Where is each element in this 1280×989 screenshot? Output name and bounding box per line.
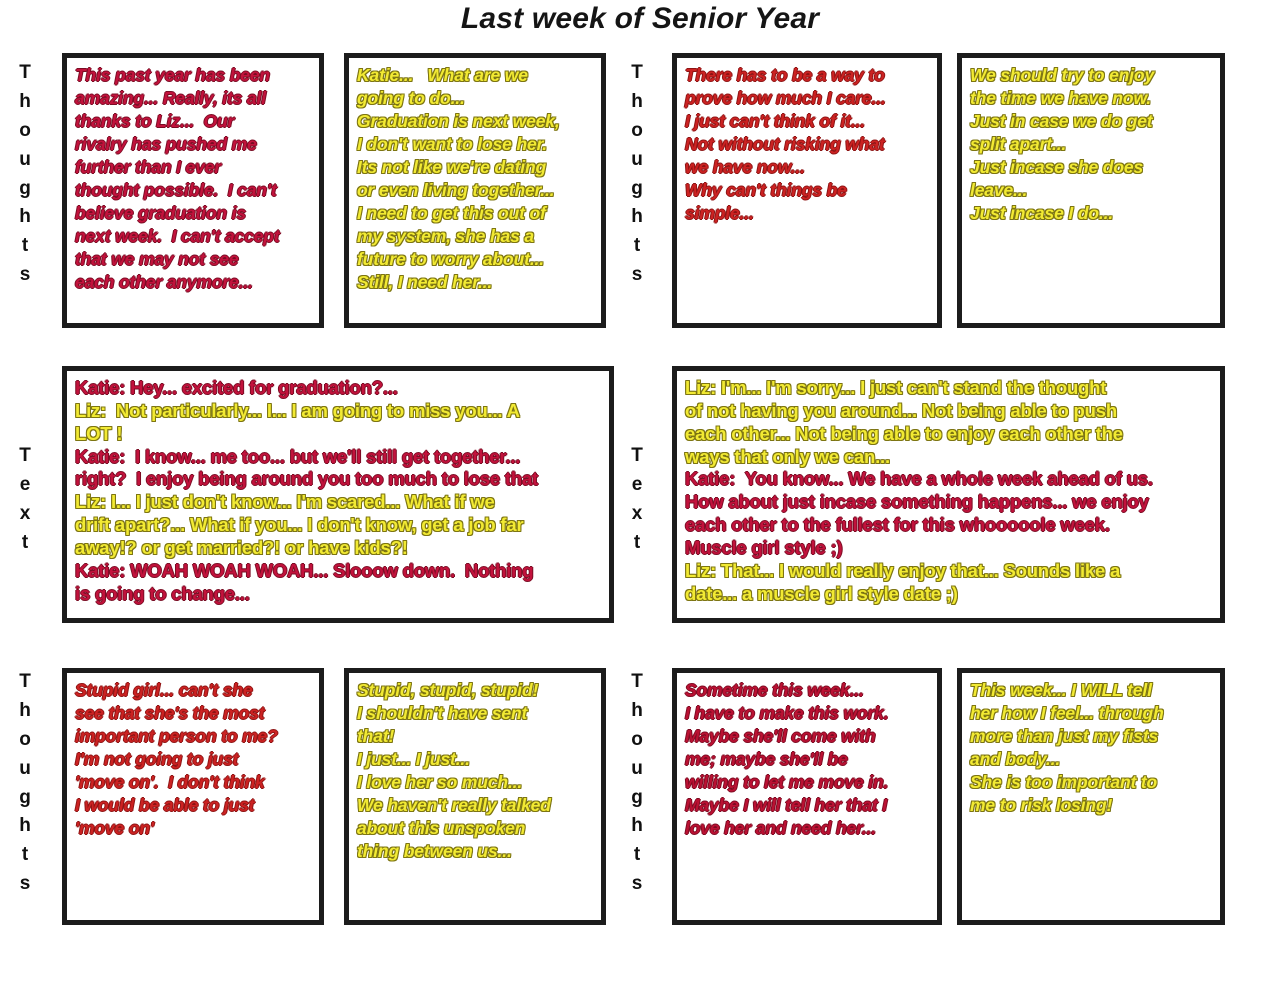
thought-line: There has to be a way to — [685, 64, 930, 87]
dialogue-line: Liz: Not particularly... I... I am going… — [75, 400, 602, 423]
side-label-letter: s — [8, 261, 42, 290]
side-label-letter: u — [8, 755, 42, 784]
panel-text-1-body: Katie: Hey... excited for graduation?...… — [67, 371, 609, 609]
side-label-letter: e — [620, 471, 654, 500]
side-label-letter: t — [8, 529, 42, 558]
thought-line: Just incase I do... — [970, 202, 1213, 225]
panel-text-1: Katie: Hey... excited for graduation?...… — [62, 366, 614, 623]
dialogue-line: Katie: You know... We have a whole week … — [685, 468, 1213, 491]
thought-line: thing between us... — [357, 840, 594, 863]
thought-line: simple... — [685, 202, 930, 225]
thought-line: Stupid, stupid, stupid! — [357, 679, 594, 702]
dialogue-line: away!? or get married?! or have kids?! — [75, 537, 602, 560]
thought-line: Stupid girl... can't she — [75, 679, 312, 702]
thought-line: rivalry has pushed me — [75, 133, 312, 156]
thought-line: I just can't think of it... — [685, 110, 930, 133]
side-label-letter: h — [8, 697, 42, 726]
dialogue-line: Katie: Hey... excited for graduation?... — [75, 377, 602, 400]
dialogue-line: drift apart?... What if you... I don't k… — [75, 514, 602, 537]
thought-line: Its not like we're dating — [357, 156, 594, 179]
thought-line: further than I ever — [75, 156, 312, 179]
dialogue-line: Liz: I... I just don't know... I'm scare… — [75, 491, 602, 514]
side-label-letter: h — [620, 697, 654, 726]
thought-line: Maybe she'll come with — [685, 725, 930, 748]
panel-thoughts-2: Katie... What are we going to do... Grad… — [344, 53, 606, 328]
thought-line: love her and need her... — [685, 817, 930, 840]
side-label-letter: T — [620, 668, 654, 697]
row-label-thoughts-right-top: Thoughts — [620, 59, 654, 290]
side-label-letter: g — [8, 784, 42, 813]
thought-line: thought possible. I can't — [75, 179, 312, 202]
thought-line: Why can't things be — [685, 179, 930, 202]
side-label-letter: t — [620, 529, 654, 558]
dialogue-line: ways that only we can... — [685, 446, 1213, 469]
row-text-middle: Text Katie: Hey... excited for graduatio… — [0, 366, 1280, 623]
row-thoughts-bottom: Thoughts Stupid girl... can't she see th… — [0, 668, 1280, 925]
side-label-letter: T — [620, 442, 654, 471]
side-label-letter: t — [620, 841, 654, 870]
thought-line: me to risk losing! — [970, 794, 1213, 817]
dialogue-line: of not having you around... Not being ab… — [685, 400, 1213, 423]
side-label-letter: o — [8, 117, 42, 146]
dialogue-line: is going to change... — [75, 583, 602, 606]
row-label-thoughts-right-bottom: Thoughts — [620, 668, 654, 899]
thought-line: believe graduation is — [75, 202, 312, 225]
thought-line: we have now... — [685, 156, 930, 179]
dialogue-line: LOT ! — [75, 423, 602, 446]
side-label-letter: s — [620, 261, 654, 290]
dialogue-line: How about just incase something happens.… — [685, 491, 1213, 514]
panel-text-2-body: Liz: I'm... I'm sorry... I just can't st… — [677, 371, 1220, 609]
side-label-letter: s — [8, 870, 42, 899]
thought-line: This week... I WILL tell — [970, 679, 1213, 702]
thought-line: She is too important to — [970, 771, 1213, 794]
thought-line: next week. I can't accept — [75, 225, 312, 248]
thought-line: the time we have now. — [970, 87, 1213, 110]
panel-thoughts-1: This past year has been amazing... Reall… — [62, 53, 324, 328]
row-label-thoughts-left-top: Thoughts — [8, 59, 42, 290]
dialogue-line: date... a muscle girl style date ;) — [685, 583, 1213, 606]
thought-line: We should try to enjoy — [970, 64, 1213, 87]
thought-line: willing to let me move in. — [685, 771, 930, 794]
thought-line: prove how much I care... — [685, 87, 930, 110]
side-label-letter: h — [8, 88, 42, 117]
side-label-letter: u — [620, 146, 654, 175]
side-label-letter: g — [620, 784, 654, 813]
side-label-letter: h — [8, 812, 42, 841]
dialogue-line: Liz: That... I would really enjoy that..… — [685, 560, 1213, 583]
dialogue-line: Katie: I know... me too... but we'll sti… — [75, 446, 602, 469]
thought-line: each other anymore... — [75, 271, 312, 294]
dialogue-line: Liz: I'm... I'm sorry... I just can't st… — [685, 377, 1213, 400]
thought-line: that! — [357, 725, 594, 748]
panel-thoughts-6: Stupid, stupid, stupid! I shouldn't have… — [344, 668, 606, 925]
side-label-letter: e — [8, 471, 42, 500]
panel-thoughts-5: Stupid girl... can't she see that she's … — [62, 668, 324, 925]
panel-thoughts-3: There has to be a way to prove how much … — [672, 53, 942, 328]
dialogue-line: each other to the fullest for this whooo… — [685, 514, 1213, 537]
side-label-letter: h — [620, 203, 654, 232]
thought-line: This past year has been — [75, 64, 312, 87]
thought-line: thanks to Liz... Our — [75, 110, 312, 133]
thought-line: I don't want to lose her. — [357, 133, 594, 156]
side-label-letter: t — [620, 232, 654, 261]
thought-line: Katie... What are we — [357, 64, 594, 87]
side-label-letter: x — [620, 500, 654, 529]
thought-line: Still, I need her... — [357, 271, 594, 294]
side-label-letter: u — [8, 146, 42, 175]
panel-thoughts-4-body: We should try to enjoy the time we have … — [962, 58, 1220, 229]
thought-line: important person to me? — [75, 725, 312, 748]
panel-thoughts-7-body: Sometime this week... I have to make thi… — [677, 673, 937, 844]
thought-line: or even living together... — [357, 179, 594, 202]
panel-thoughts-5-body: Stupid girl... can't she see that she's … — [67, 673, 319, 844]
thought-line: me; maybe she'll be — [685, 748, 930, 771]
thought-line: Just incase she does — [970, 156, 1213, 179]
thought-line: see that she's the most — [75, 702, 312, 725]
dialogue-line: Muscle girl style ;) — [685, 537, 1213, 560]
thought-line: I need to get this out of — [357, 202, 594, 225]
side-label-letter: o — [8, 726, 42, 755]
side-label-letter: t — [8, 841, 42, 870]
side-label-letter: T — [8, 442, 42, 471]
row-thoughts-top: Thoughts This past year has been amazing… — [0, 53, 1280, 328]
panel-thoughts-3-body: There has to be a way to prove how much … — [677, 58, 937, 229]
thought-line: I love her so much... — [357, 771, 594, 794]
thought-line: 'move on' — [75, 817, 312, 840]
side-label-letter: u — [620, 755, 654, 784]
panel-thoughts-1-body: This past year has been amazing... Reall… — [67, 58, 319, 298]
side-label-letter: T — [8, 668, 42, 697]
side-label-letter: T — [620, 59, 654, 88]
side-label-letter: o — [620, 726, 654, 755]
side-label-letter: h — [620, 812, 654, 841]
side-label-letter: h — [8, 203, 42, 232]
thought-line: amazing... Really, its all — [75, 87, 312, 110]
thought-line: her how I feel... through — [970, 702, 1213, 725]
thought-line: Sometime this week... — [685, 679, 930, 702]
side-label-letter: s — [620, 870, 654, 899]
thought-line: 'move on'. I don't think — [75, 771, 312, 794]
thought-line: that we may not see — [75, 248, 312, 271]
thought-line: I have to make this work. — [685, 702, 930, 725]
side-label-letter: t — [8, 232, 42, 261]
side-label-letter: x — [8, 500, 42, 529]
panel-thoughts-7: Sometime this week... I have to make thi… — [672, 668, 942, 925]
thought-line: We haven't really talked — [357, 794, 594, 817]
thought-line: split apart... — [970, 133, 1213, 156]
side-label-letter: h — [620, 88, 654, 117]
panel-thoughts-8: This week... I WILL tell her how I feel.… — [957, 668, 1225, 925]
row-label-text-right: Text — [620, 442, 654, 558]
side-label-letter: T — [8, 59, 42, 88]
thought-line: I just... I just... — [357, 748, 594, 771]
thought-line: I would be able to just — [75, 794, 312, 817]
dialogue-line: right? I enjoy being around you too much… — [75, 468, 602, 491]
thought-line: Not without risking what — [685, 133, 930, 156]
thought-line: more than just my fists — [970, 725, 1213, 748]
side-label-letter: o — [620, 117, 654, 146]
side-label-letter: g — [620, 175, 654, 204]
page-title: Last week of Senior Year — [0, 2, 1280, 36]
thought-line: and body... — [970, 748, 1213, 771]
dialogue-line: Katie: WOAH WOAH WOAH... Slooow down. No… — [75, 560, 602, 583]
thought-line: I'm not going to just — [75, 748, 312, 771]
thought-line: I shouldn't have sent — [357, 702, 594, 725]
panel-thoughts-6-body: Stupid, stupid, stupid! I shouldn't have… — [349, 673, 601, 867]
row-label-thoughts-left-bottom: Thoughts — [8, 668, 42, 899]
panel-thoughts-4: We should try to enjoy the time we have … — [957, 53, 1225, 328]
panel-thoughts-8-body: This week... I WILL tell her how I feel.… — [962, 673, 1220, 821]
side-label-letter: g — [8, 175, 42, 204]
thought-line: going to do... — [357, 87, 594, 110]
thought-line: my system, she has a — [357, 225, 594, 248]
thought-line: leave... — [970, 179, 1213, 202]
thought-line: Just in case we do get — [970, 110, 1213, 133]
row-label-text-left: Text — [8, 442, 42, 558]
thought-line: Maybe I will tell her that I — [685, 794, 930, 817]
thought-line: about this unspoken — [357, 817, 594, 840]
thought-line: Graduation is next week, — [357, 110, 594, 133]
panel-text-2: Liz: I'm... I'm sorry... I just can't st… — [672, 366, 1225, 623]
panel-thoughts-2-body: Katie... What are we going to do... Grad… — [349, 58, 601, 298]
thought-line: future to worry about... — [357, 248, 594, 271]
dialogue-line: each other... Not being able to enjoy ea… — [685, 423, 1213, 446]
